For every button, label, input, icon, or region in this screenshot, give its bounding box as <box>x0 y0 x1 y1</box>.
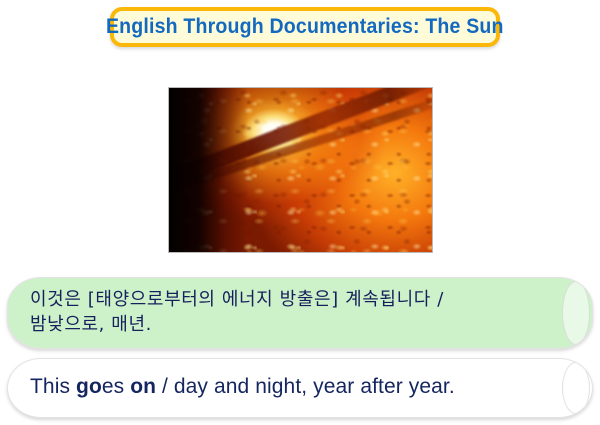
korean-sentence-bubble: 이것은 [태양으로부터의 에너지 방출은] 계속됩니다 / 밤낮으로, 매년. <box>7 277 593 349</box>
korean-sentence-text: 이것은 [태양으로부터의 에너지 방출은] 계속됩니다 / 밤낮으로, 매년. <box>30 287 444 337</box>
english-segment-4: / day and night, year after year. <box>156 375 455 398</box>
solar-flare-photo <box>168 87 433 253</box>
english-sentence-bubble: This goes on / day and night, year after… <box>7 358 593 418</box>
english-segment-1: go <box>76 375 102 398</box>
title-box: English Through Documentaries: The Sun <box>110 7 500 47</box>
page-title: English Through Documentaries: The Sun <box>106 15 504 39</box>
english-sentence-text: This goes on / day and night, year after… <box>30 373 455 401</box>
english-segment-0: This <box>30 375 76 398</box>
english-segment-3: on <box>130 375 156 398</box>
english-segment-2: es <box>102 375 130 398</box>
photo-dark-limb <box>169 88 248 252</box>
title-banner: English Through Documentaries: The Sun <box>110 7 500 47</box>
